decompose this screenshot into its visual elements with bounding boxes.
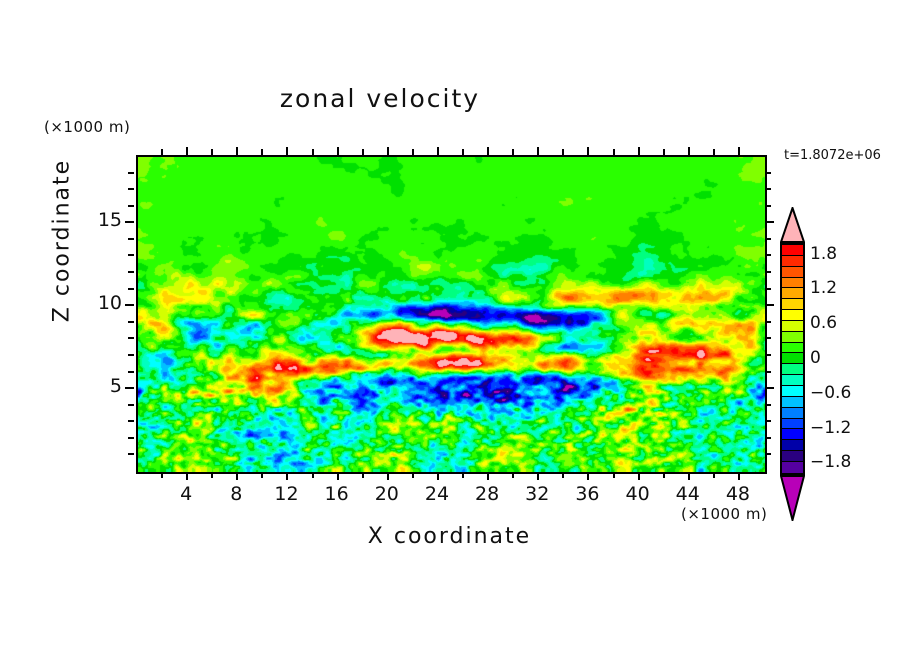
x-axis-tick [186,147,188,155]
colorbar-band [782,375,803,386]
y-axis-tick [765,354,771,356]
colorbar-band [782,429,803,440]
y-axis-tick [765,321,771,323]
y-axis-tick [765,205,771,207]
x-axis-tick [312,149,314,155]
y-axis-tick [765,337,771,339]
colorbar-band [782,256,803,267]
colorbar-band [782,267,803,278]
colorbar-band [782,397,803,408]
x-tick-label: 32 [512,483,562,505]
y-axis-tick [765,304,774,306]
timestamp-label: t=1.8072e+06 [784,148,881,163]
y-tick-label: 5 [76,375,122,397]
colorbar-band [782,364,803,375]
x-tick-label: 40 [613,483,663,505]
figure-canvas: zonal velocity (×1000 m) t=1.8072e+06 48… [0,0,904,654]
y-axis-tick [765,221,774,223]
x-tick-label: 36 [562,483,612,505]
x-axis-tick [412,472,414,478]
x-axis-tick [337,472,339,480]
x-axis-tick [437,472,439,480]
x-axis-tick [487,472,489,480]
x-axis-tick [312,472,314,478]
x-axis-title: X coordinate [136,524,763,549]
y-axis-tick [128,238,134,240]
x-tick-label: 8 [211,483,261,505]
y-axis-tick [765,453,771,455]
colorbar-tick-label: −1.2 [810,418,851,438]
colorbar-bottom-cap-icon [780,475,805,521]
x-axis-tick [613,149,615,155]
y-tick-label: 10 [76,292,122,314]
y-axis-tick [128,288,134,290]
x-axis-tick [286,147,288,155]
x-axis-tick [562,149,564,155]
x-axis-tick [261,149,263,155]
x-tick-label: 16 [312,483,362,505]
x-axis-tick [211,472,213,478]
colorbar-tick-label: 1.2 [810,278,837,298]
y-axis-tick [765,172,771,174]
x-axis-tick [638,472,640,480]
colorbar-band [782,386,803,397]
x-axis-tick [537,147,539,155]
y-axis-tick [128,453,134,455]
y-axis-tick [128,205,134,207]
colorbar-band [782,419,803,430]
y-axis-tick [128,371,134,373]
x-tick-label: 28 [462,483,512,505]
x-axis-tick [236,472,238,480]
x-axis-tick [537,472,539,480]
colorbar-tick-label: 0.6 [810,313,837,333]
x-axis-tick [362,149,364,155]
y-axis-tick [765,371,771,373]
y-axis-tick [128,420,134,422]
y-axis-tick [765,238,771,240]
colorbar-band [782,462,803,473]
x-axis-tick [211,149,213,155]
colorbar-band [782,343,803,354]
y-axis-tick [765,420,771,422]
colorbar-band [782,332,803,343]
x-axis-tick [738,147,740,155]
colorbar-band [782,245,803,256]
x-axis-tick [613,472,615,478]
x-tick-label: 20 [362,483,412,505]
y-axis-tick [125,387,134,389]
x-axis-tick [186,472,188,480]
x-axis-tick [261,472,263,478]
x-axis-tick [487,147,489,155]
x-axis-tick [236,147,238,155]
y-axis-tick [128,172,134,174]
colorbar-tick-label: 0 [810,348,821,368]
y-axis-tick [128,354,134,356]
y-axis-tick [128,404,134,406]
y-axis-tick [128,271,134,273]
x-axis-tick [738,472,740,480]
colorbar-band [782,310,803,321]
x-axis-unit-label: (×1000 m) [681,505,767,523]
x-axis-tick [512,472,514,478]
colorbar-tick-label: −1.8 [810,452,851,472]
x-axis-tick [688,147,690,155]
y-axis-tick [765,188,771,190]
x-axis-tick [412,149,414,155]
colorbar-band [782,451,803,462]
colorbar [780,243,805,475]
x-axis-tick [362,472,364,478]
colorbar-band [782,278,803,289]
contour-field [138,157,765,472]
y-axis-title: Z coordinate [50,131,75,351]
colorbar-band [782,440,803,451]
plot-area [136,155,767,474]
y-axis-tick [765,271,771,273]
x-axis-tick [663,472,665,478]
colorbar-band [782,321,803,332]
colorbar-tick-label: −0.6 [810,383,851,403]
x-axis-tick [387,472,389,480]
y-axis-tick [128,188,134,190]
y-axis-tick [128,321,134,323]
y-axis-tick [765,404,771,406]
y-axis-tick [765,437,771,439]
x-axis-tick [337,147,339,155]
x-axis-tick [587,147,589,155]
colorbar-tick-label: 1.8 [810,244,837,264]
x-axis-tick [462,149,464,155]
x-axis-tick [638,147,640,155]
y-axis-tick [128,337,134,339]
y-axis-tick [125,221,134,223]
colorbar-band [782,288,803,299]
x-axis-tick [437,147,439,155]
colorbar-band [782,408,803,419]
colorbar-top-cap-icon [780,207,805,243]
x-axis-tick [688,472,690,480]
x-tick-label: 44 [663,483,713,505]
page-title: zonal velocity [0,84,760,113]
y-axis-tick [765,387,774,389]
x-axis-tick [161,149,163,155]
y-axis-tick [128,254,134,256]
colorbar-band [782,299,803,310]
x-axis-tick [286,472,288,480]
x-tick-label: 48 [713,483,763,505]
y-axis-tick [128,437,134,439]
x-axis-tick [161,472,163,478]
x-axis-tick [562,472,564,478]
x-tick-label: 24 [412,483,462,505]
x-axis-tick [387,147,389,155]
x-axis-tick [512,149,514,155]
x-axis-tick [713,149,715,155]
y-tick-label: 15 [76,209,122,231]
y-axis-tick [765,288,771,290]
colorbar-band [782,353,803,364]
y-axis-tick [765,254,771,256]
x-tick-label: 4 [161,483,211,505]
x-tick-label: 12 [261,483,311,505]
x-axis-tick [713,472,715,478]
x-axis-tick [663,149,665,155]
x-axis-tick [587,472,589,480]
x-axis-tick [462,472,464,478]
y-axis-tick [125,304,134,306]
